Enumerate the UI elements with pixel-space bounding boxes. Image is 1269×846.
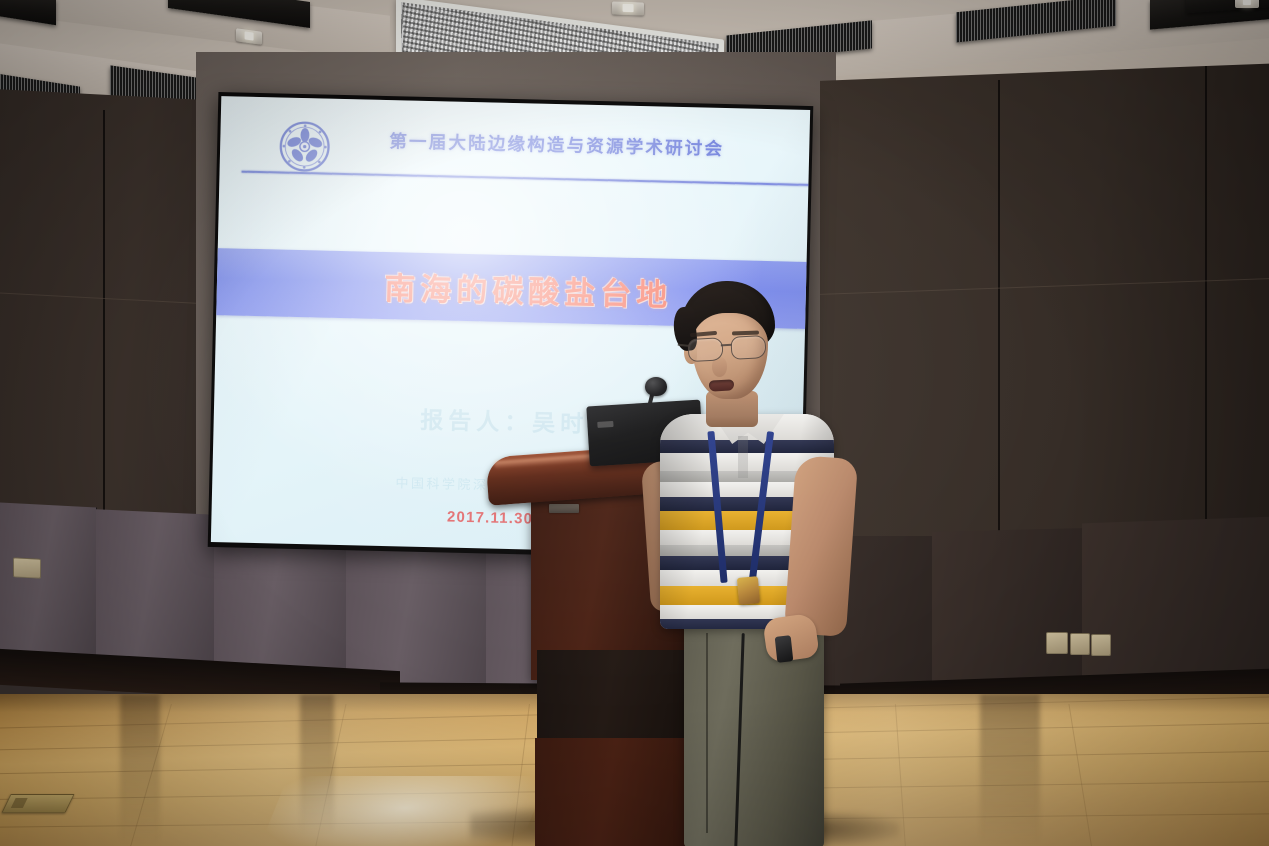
wall-panel: [0, 502, 97, 667]
wall-outlet: [13, 557, 41, 578]
slide-header-text: 第一届大陆边缘构造与资源学术研讨会: [340, 127, 773, 162]
wall-outlet: [1046, 632, 1068, 654]
presenter-remote: [775, 635, 794, 663]
ceiling-box: [0, 0, 56, 25]
wall-outlet: [1070, 633, 1090, 655]
podium-nameplate: [549, 504, 579, 513]
speaker-badge: [737, 576, 760, 605]
glasses-icon: [683, 335, 772, 363]
wall-panel: [96, 509, 215, 674]
speaker: [640, 281, 870, 846]
university-emblem-icon: [278, 119, 332, 173]
ceiling-spotlight: [1235, 0, 1259, 8]
wall-panel: [932, 528, 1083, 696]
speaker-right-arm: [784, 455, 858, 637]
conference-hall-photo: 第一届大陆边缘构造与资源学术研讨会 南海的碳酸盐台地 报告人：吴时国 中国科学院…: [0, 0, 1269, 846]
floor-socket-plate: [1, 794, 74, 813]
speaker-mouth: [709, 379, 735, 391]
slide-divider-rule: [242, 171, 811, 187]
ceiling-spotlight: [612, 1, 644, 15]
wall-outlet: [1091, 634, 1111, 656]
